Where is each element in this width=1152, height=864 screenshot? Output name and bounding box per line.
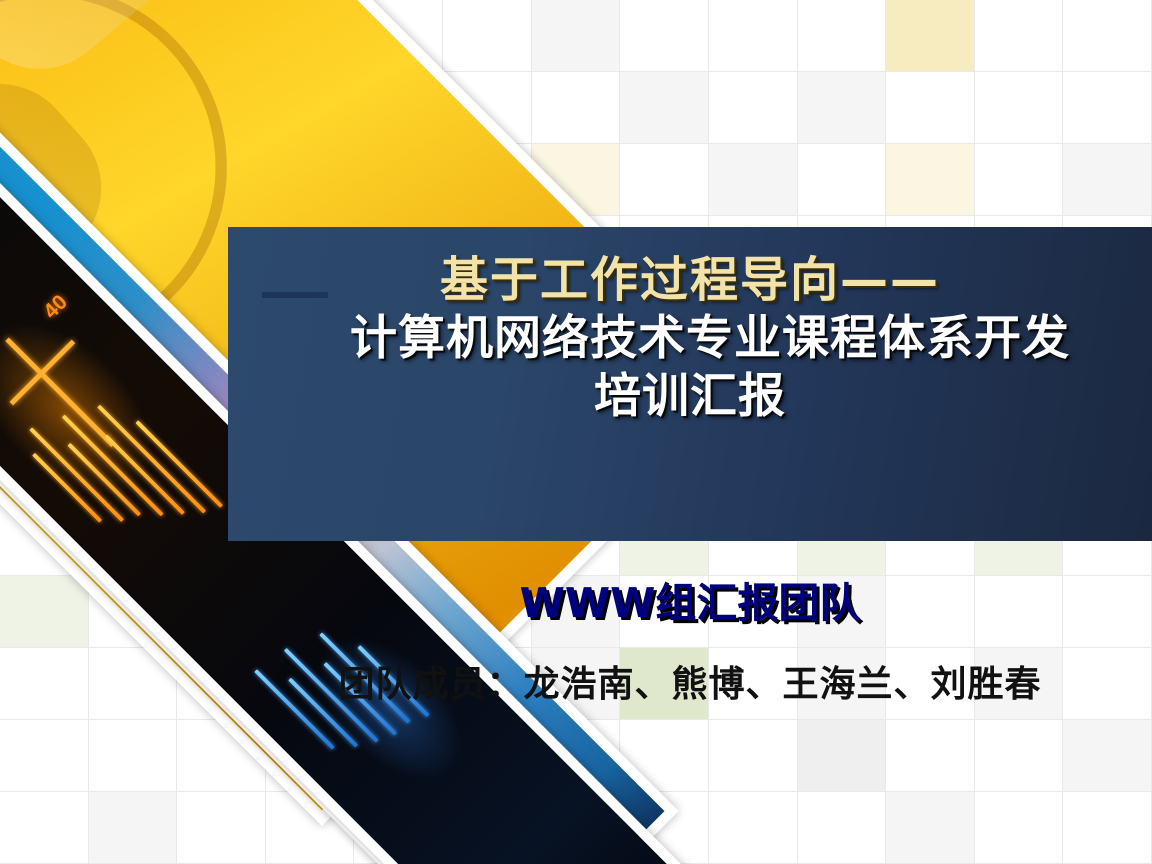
grid-cell: [798, 792, 887, 864]
grid-cell: [886, 0, 975, 72]
grid-cell: [620, 72, 709, 144]
grid-cell: [798, 144, 887, 216]
grid-cell: [798, 0, 887, 72]
grid-cell: [975, 720, 1064, 792]
grid-cell: [1063, 792, 1152, 864]
grid-cell: [709, 0, 798, 72]
chart-number-label: 40: [39, 291, 72, 324]
grid-cell: [1063, 72, 1152, 144]
team-name: WWW组汇报团队: [228, 578, 1152, 629]
grid-cell: [0, 648, 89, 720]
grid-cell: [1063, 720, 1152, 792]
grid-cell: [975, 792, 1064, 864]
grid-cell: [620, 144, 709, 216]
grid-cell: [1063, 0, 1152, 72]
grid-cell: [620, 0, 709, 72]
grid-cell: [532, 72, 621, 144]
grid-cell: [0, 576, 89, 648]
grid-cell: [709, 792, 798, 864]
grid-cell: [709, 72, 798, 144]
grid-cell: [975, 72, 1064, 144]
subtitle-block: WWW组汇报团队 团队成员：龙浩南、熊博、王海兰、刘胜春: [228, 578, 1152, 707]
grid-cell: [443, 0, 532, 72]
banner-accent-dash: [262, 292, 328, 298]
grid-cell: [0, 720, 89, 792]
title-slide: 40 基于工作过程导向—— 计算机网络技术专业课程体系开发 培训汇报 WWW组汇…: [0, 0, 1152, 864]
grid-cell: [709, 720, 798, 792]
grid-cell: [975, 0, 1064, 72]
grid-cell: [886, 72, 975, 144]
grid-cell: [89, 720, 178, 792]
grid-cell: [177, 792, 266, 864]
grid-cell: [89, 792, 178, 864]
grid-cell: [709, 144, 798, 216]
title-banner: [228, 227, 1152, 541]
grid-cell: [798, 72, 887, 144]
grid-cell: [1063, 144, 1152, 216]
grid-cell: [0, 792, 89, 864]
grid-cell: [886, 144, 975, 216]
grid-cell: [798, 720, 887, 792]
team-members: 团队成员：龙浩南、熊博、王海兰、刘胜春: [228, 655, 1152, 707]
grid-cell: [886, 792, 975, 864]
grid-cell: [975, 144, 1064, 216]
grid-cell: [886, 720, 975, 792]
grid-cell: [532, 0, 621, 72]
